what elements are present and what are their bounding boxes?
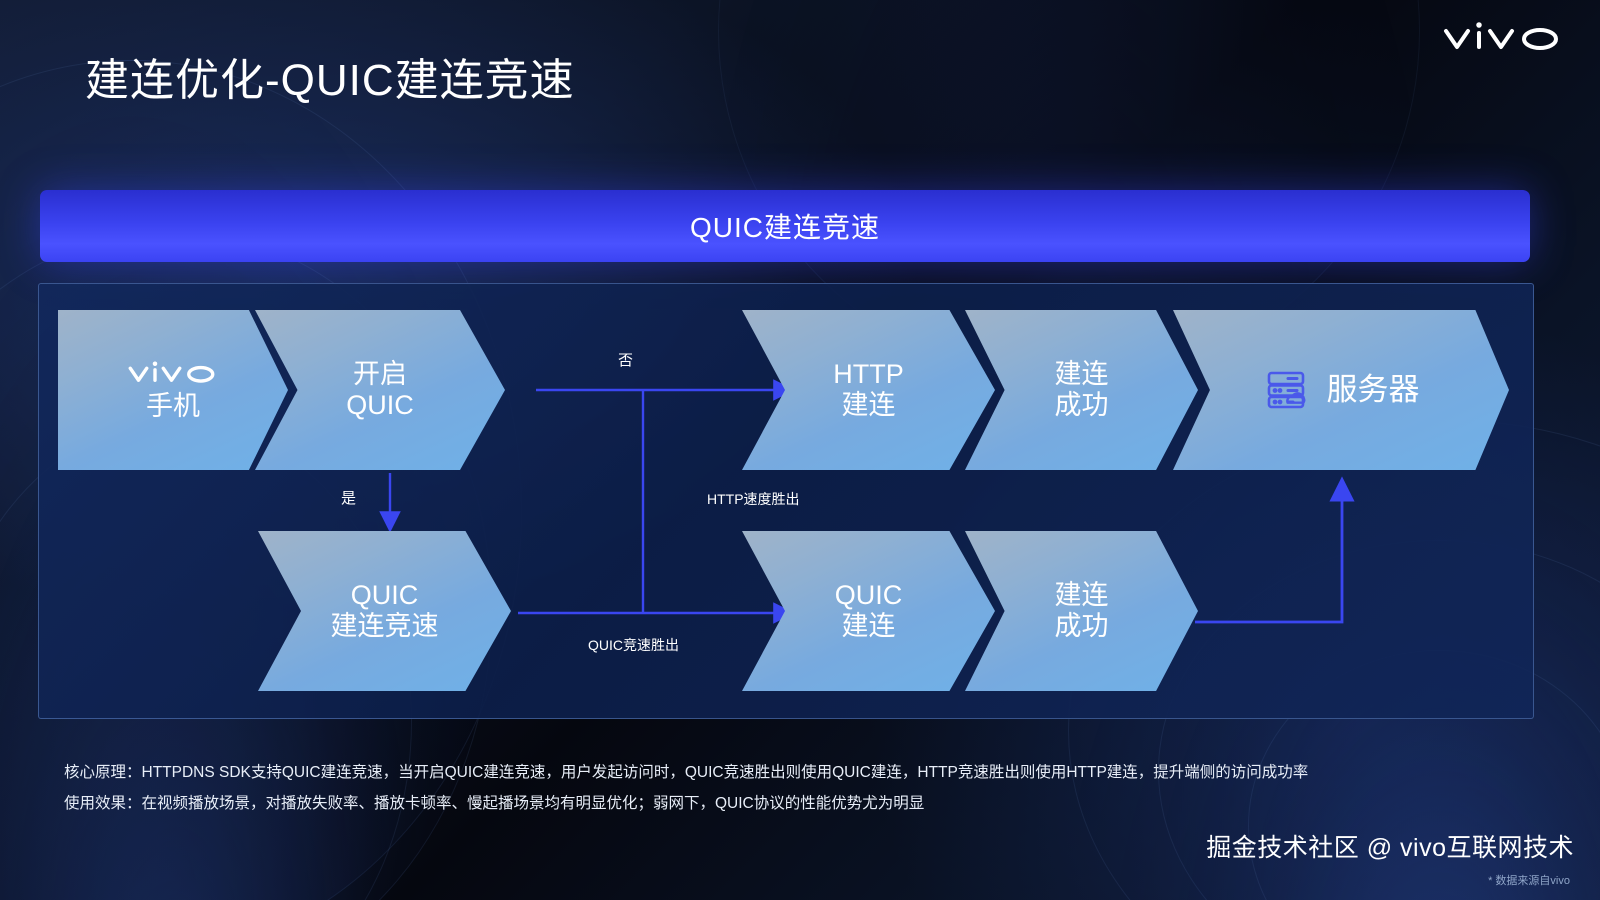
edge-label-quic-wins: QUIC竞速胜出 [588, 635, 679, 655]
slide-root: 建连优化-QUIC建连竞速 QUIC建连竞速 否 是 HTTP速度 [0, 0, 1600, 900]
node-label-line2: 建连 [842, 611, 896, 642]
node-label-line2: 建连 [842, 390, 896, 421]
section-banner: QUIC建连竞速 [40, 190, 1530, 262]
edge-label-no: 否 [618, 349, 633, 370]
note-principle: 核心原理：HTTPDNS SDK支持QUIC建连竞速，当开启QUIC建连竞速，用… [64, 757, 1308, 788]
section-banner-title: QUIC建连竞速 [690, 206, 880, 246]
node-label-line1: 建连 [1055, 580, 1109, 611]
node-label-line1: QUIC [351, 580, 419, 611]
node-label-line1: 服务器 [1327, 372, 1420, 408]
vivo-logo-icon [1442, 14, 1564, 58]
node-label-line2: 建连竞速 [331, 611, 439, 642]
node-label-line1: 开启 [353, 359, 407, 390]
note-effect: 使用效果：在视频播放场景，对播放失败率、播放卡顿率、慢起播场景均有明显优化；弱网… [64, 788, 1308, 819]
notes-block: 核心原理：HTTPDNS SDK支持QUIC建连竞速，当开启QUIC建连竞速，用… [64, 757, 1308, 819]
server-icon [1263, 366, 1311, 414]
page-title: 建连优化-QUIC建连竞速 [85, 44, 575, 108]
node-label-line1: HTTP [833, 359, 904, 390]
node-label-line2: 成功 [1055, 390, 1109, 421]
node-label-line2: QUIC [346, 390, 414, 421]
edge-label-yes: 是 [341, 487, 356, 508]
node-label-line1: 手机 [146, 391, 200, 422]
vivo-wordmark-icon [119, 357, 227, 387]
node-label-line1: 建连 [1055, 359, 1109, 390]
footer-source-note: * 数据来源自vivo [1488, 872, 1570, 888]
node-server[interactable]: 服务器 [1173, 310, 1509, 470]
node-label-line1: QUIC [835, 580, 903, 611]
node-vivo-phone[interactable]: 手机 [58, 310, 288, 470]
edge-label-http-wins: HTTP速度胜出 [707, 489, 800, 509]
footer-brand: 掘金技术社区 @ vivo互联网技术 [1206, 828, 1574, 864]
node-label-line2: 成功 [1055, 611, 1109, 642]
